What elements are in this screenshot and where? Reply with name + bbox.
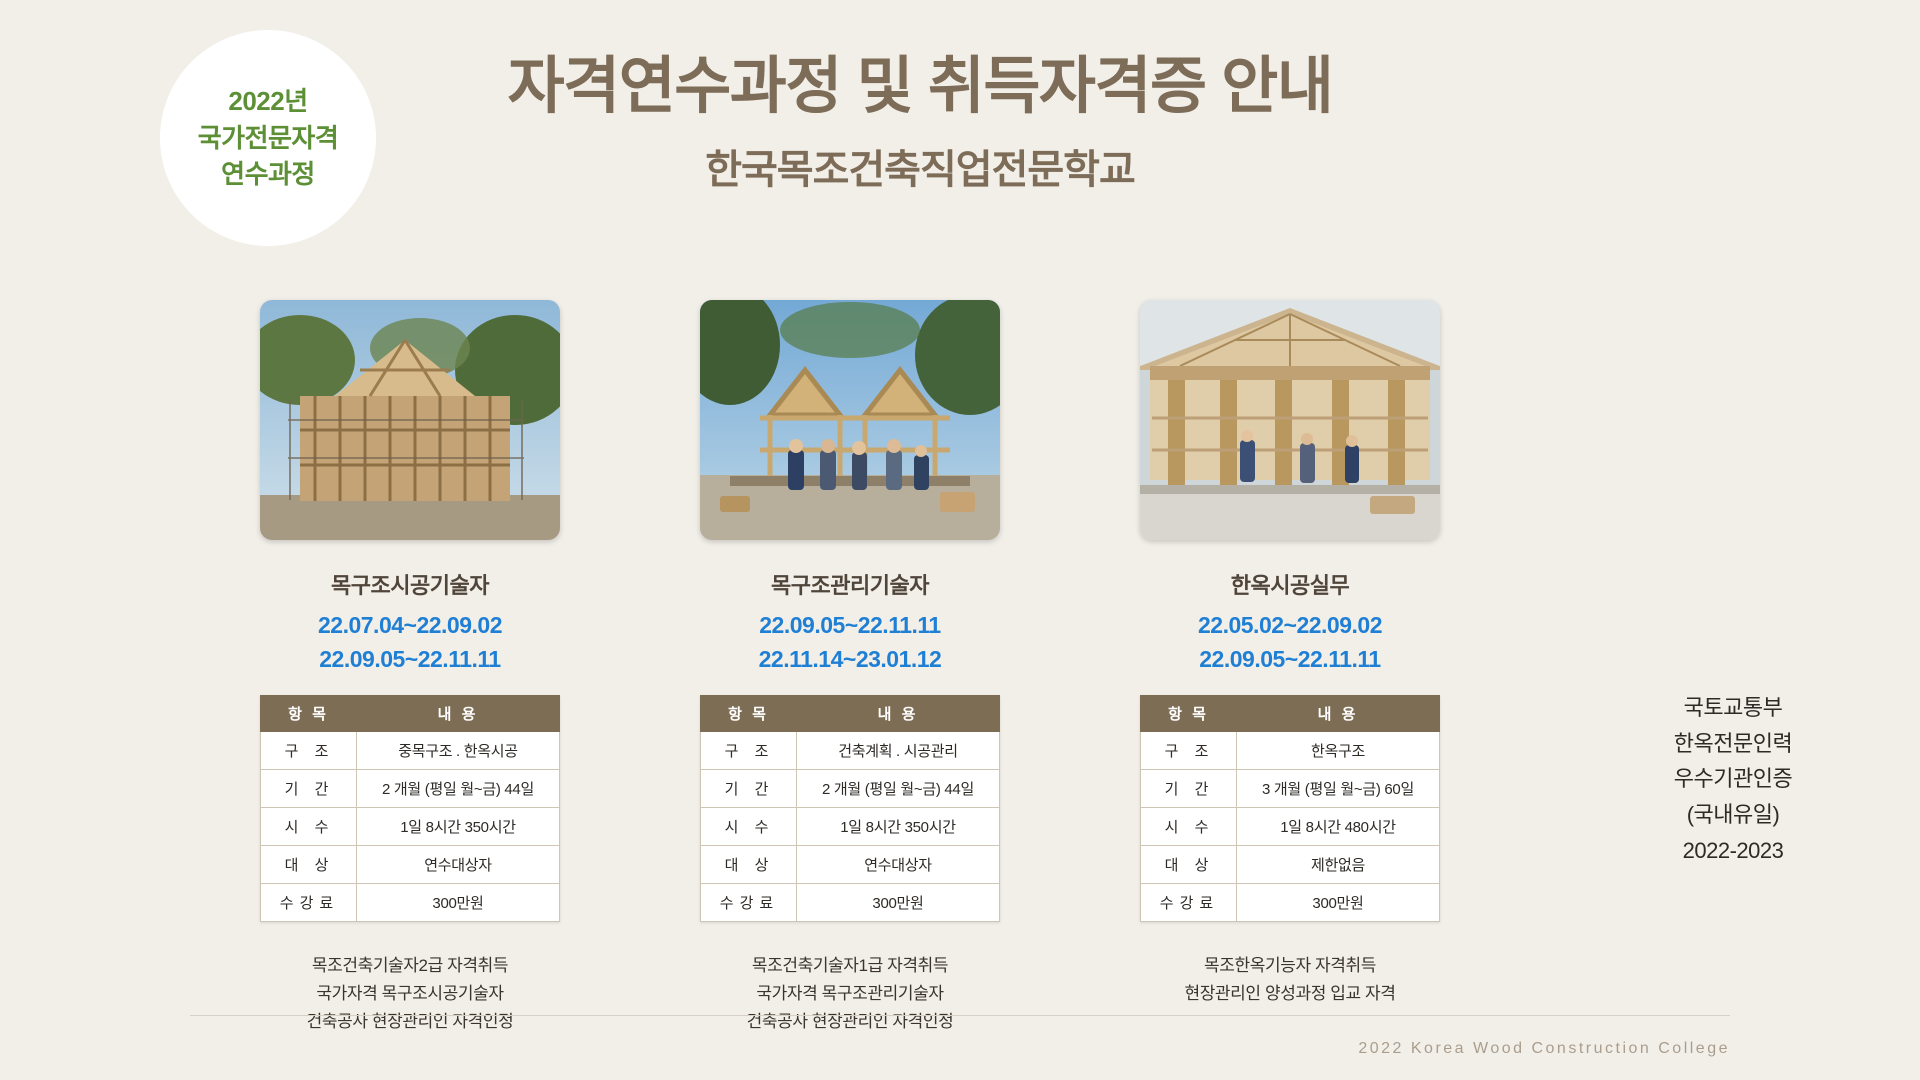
course-notes-2: 목조건축기술자1급 자격취득 국가자격 목구조관리기술자 건축공사 현장관리인 …: [747, 952, 954, 1036]
table-row: 기 간 2 개월 (평일 월~금) 44일: [261, 770, 560, 808]
course-date-3-a: 22.05.02~22.09.02: [1198, 612, 1382, 639]
cert-line-hanok-workforce: 한옥전문인력: [1608, 726, 1858, 762]
note-line: 국가자격 목구조시공기술자: [307, 980, 514, 1008]
table-header-item: 항 목: [701, 696, 797, 732]
course-photo-2: [700, 300, 1000, 540]
row-value: 건축계획 . 시공관리: [797, 732, 1000, 770]
page-header: 2022년 국가전문자격 연수과정 자격연수과정 및 취득자격증 안내 한국목조…: [0, 0, 1920, 250]
table-row: 구 조 한옥구조: [1141, 732, 1440, 770]
row-label: 구 조: [1141, 732, 1237, 770]
row-value: 1일 8시간 350시간: [797, 808, 1000, 846]
badge-line-qualification: 국가전문자격: [198, 122, 339, 155]
page-subtitle: 한국목조건축직업전문학교: [380, 137, 1460, 195]
row-value: 300만원: [1237, 884, 1440, 922]
table-row: 대 상 연수대상자: [261, 846, 560, 884]
row-label: 수강료: [1141, 884, 1237, 922]
table-row: 시 수 1일 8시간 350시간: [701, 808, 1000, 846]
row-value: 300만원: [357, 884, 560, 922]
table-row: 기 간 2 개월 (평일 월~금) 44일: [701, 770, 1000, 808]
course-photo-3: [1140, 300, 1440, 540]
table-row: 구 조 건축계획 . 시공관리: [701, 732, 1000, 770]
row-label: 시 수: [1141, 808, 1237, 846]
table-row: 시 수 1일 8시간 350시간: [261, 808, 560, 846]
row-value: 3 개월 (평일 월~금) 60일: [1237, 770, 1440, 808]
row-label: 구 조: [701, 732, 797, 770]
footer-divider: [190, 1015, 1730, 1016]
note-line: 국가자격 목구조관리기술자: [747, 980, 954, 1008]
table-header-content: 내 용: [797, 696, 1000, 732]
table-row: 수강료 300만원: [701, 884, 1000, 922]
course-photo-1: [260, 300, 560, 540]
cert-line-ministry: 국토교통부: [1608, 690, 1858, 726]
badge-line-year: 2022년: [228, 85, 307, 118]
table-header-item: 항 목: [261, 696, 357, 732]
title-block: 자격연수과정 및 취득자격증 안내 한국목조건축직업전문학교: [380, 52, 1460, 195]
course-date-1-b: 22.09.05~22.11.11: [319, 646, 500, 673]
table-row: 기 간 3 개월 (평일 월~금) 60일: [1141, 770, 1440, 808]
row-value: 1일 8시간 350시간: [357, 808, 560, 846]
footer-text: 2022 Korea Wood Construction College: [1358, 1040, 1730, 1058]
row-label: 기 간: [261, 770, 357, 808]
row-label: 대 상: [1141, 846, 1237, 884]
row-value: 제한없음: [1237, 846, 1440, 884]
note-line: 현장관리인 양성과정 입교 자격: [1184, 980, 1395, 1008]
table-header-content: 내 용: [1237, 696, 1440, 732]
year-badge: 2022년 국가전문자격 연수과정: [160, 30, 376, 246]
course-name-3: 한옥시공실무: [1231, 568, 1349, 600]
course-column-3: 한옥시공실무 22.05.02~22.09.02 22.09.05~22.11.…: [1070, 300, 1510, 1036]
table-row: 대 상 제한없음: [1141, 846, 1440, 884]
course-table-1: 항 목 내 용 구 조 중목구조 . 한옥시공 기 간 2 개월 (평일 월~금…: [260, 695, 560, 922]
row-label: 시 수: [701, 808, 797, 846]
row-value: 연수대상자: [357, 846, 560, 884]
course-notes-1: 목조건축기술자2급 자격취득 국가자격 목구조시공기술자 건축공사 현장관리인 …: [307, 952, 514, 1036]
row-label: 수강료: [701, 884, 797, 922]
table-header-row: 항 목 내 용: [261, 696, 560, 732]
row-value: 1일 8시간 480시간: [1237, 808, 1440, 846]
course-date-3-b: 22.09.05~22.11.11: [1199, 646, 1380, 673]
row-label: 구 조: [261, 732, 357, 770]
course-column-1: 목구조시공기술자 22.07.04~22.09.02 22.09.05~22.1…: [190, 300, 630, 1036]
table-header-row: 항 목 내 용: [701, 696, 1000, 732]
row-value: 300만원: [797, 884, 1000, 922]
course-notes-3: 목조한옥기능자 자격취득 현장관리인 양성과정 입교 자격: [1184, 952, 1395, 1008]
table-row: 수강료 300만원: [261, 884, 560, 922]
table-row: 시 수 1일 8시간 480시간: [1141, 808, 1440, 846]
table-row: 구 조 중목구조 . 한옥시공: [261, 732, 560, 770]
note-line: 목조건축기술자1급 자격취득: [747, 952, 954, 980]
table-header-content: 내 용: [357, 696, 560, 732]
row-label: 기 간: [701, 770, 797, 808]
row-value: 한옥구조: [1237, 732, 1440, 770]
row-label: 기 간: [1141, 770, 1237, 808]
cert-line-excellent-institution: 우수기관인증: [1608, 761, 1858, 797]
note-line: 목조건축기술자2급 자격취득: [307, 952, 514, 980]
row-label: 시 수: [261, 808, 357, 846]
table-row: 수강료 300만원: [1141, 884, 1440, 922]
course-table-3: 항 목 내 용 구 조 한옥구조 기 간 3 개월 (평일 월~금) 60일 시…: [1140, 695, 1440, 922]
row-value: 2 개월 (평일 월~금) 44일: [797, 770, 1000, 808]
row-value: 중목구조 . 한옥시공: [357, 732, 560, 770]
row-label: 대 상: [701, 846, 797, 884]
cert-line-only-in-korea: (국내유일): [1608, 797, 1858, 833]
row-value: 2 개월 (평일 월~금) 44일: [357, 770, 560, 808]
note-line: 목조한옥기능자 자격취득: [1184, 952, 1395, 980]
table-header-row: 항 목 내 용: [1141, 696, 1440, 732]
row-label: 수강료: [261, 884, 357, 922]
note-line: 건축공사 현장관리인 자격인정: [307, 1008, 514, 1036]
course-name-2: 목구조관리기술자: [771, 568, 929, 600]
course-date-2-a: 22.09.05~22.11.11: [759, 612, 940, 639]
certification-block: 국토교통부 한옥전문인력 우수기관인증 (국내유일) 2022-2023: [1608, 690, 1858, 868]
course-column-2: 목구조관리기술자 22.09.05~22.11.11 22.11.14~23.0…: [630, 300, 1070, 1036]
course-date-1-a: 22.07.04~22.09.02: [318, 612, 502, 639]
row-label: 대 상: [261, 846, 357, 884]
table-row: 대 상 연수대상자: [701, 846, 1000, 884]
course-date-2-b: 22.11.14~23.01.12: [759, 646, 942, 673]
course-table-2: 항 목 내 용 구 조 건축계획 . 시공관리 기 간 2 개월 (평일 월~금…: [700, 695, 1000, 922]
note-line: 건축공사 현장관리인 자격인정: [747, 1008, 954, 1036]
badge-line-course: 연수과정: [221, 158, 315, 191]
course-name-1: 목구조시공기술자: [331, 568, 489, 600]
table-header-item: 항 목: [1141, 696, 1237, 732]
page-title: 자격연수과정 및 취득자격증 안내: [380, 52, 1460, 121]
row-value: 연수대상자: [797, 846, 1000, 884]
cert-line-years: 2022-2023: [1608, 833, 1858, 869]
course-columns: 목구조시공기술자 22.07.04~22.09.02 22.09.05~22.1…: [0, 300, 1920, 1036]
